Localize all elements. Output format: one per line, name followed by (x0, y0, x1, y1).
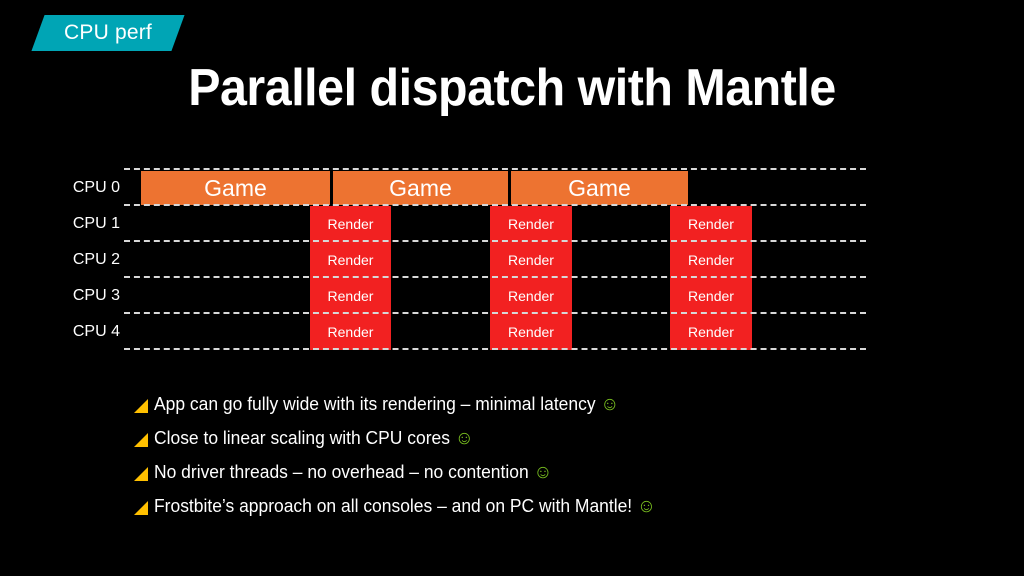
list-item: Frostbite’s approach on all consoles – a… (132, 490, 952, 524)
chart-row: CPU 4RenderRenderRender (0, 314, 1024, 350)
list-item: No driver threads – no overhead – no con… (132, 456, 952, 490)
triangle-bullet-icon (132, 388, 154, 422)
render-block: Render (670, 278, 752, 314)
render-block: Render (490, 206, 572, 242)
chart-gridline (124, 312, 866, 314)
row-label-cpu-4: CPU 4 (20, 314, 120, 350)
render-block: Render (490, 242, 572, 278)
row-label-cpu-0: CPU 0 (20, 170, 120, 206)
chart-row: CPU 0GameGameGame (0, 170, 1024, 206)
bullet-text: No driver threads – no overhead – no con… (154, 462, 552, 484)
render-block: Render (310, 278, 391, 314)
list-item: Close to linear scaling with CPU cores☺ (132, 422, 952, 456)
render-block: Render (310, 242, 391, 278)
row-label-cpu-2: CPU 2 (20, 242, 120, 278)
triangle-bullet-icon (132, 456, 154, 490)
chart-row: CPU 3RenderRenderRender (0, 278, 1024, 314)
smiley-icon: ☺ (534, 462, 553, 483)
chart-gridline (124, 204, 866, 206)
kicker-label: CPU perf (64, 21, 152, 45)
cpu-timeline-chart: CPU 0GameGameGameCPU 1RenderRenderRender… (0, 168, 1024, 350)
game-block: Game (141, 171, 330, 205)
chart-row: CPU 2RenderRenderRender (0, 242, 1024, 278)
triangle-bullet-icon (132, 490, 154, 524)
game-block: Game (511, 171, 688, 205)
smiley-icon: ☺ (637, 496, 656, 517)
bullet-list: App can go fully wide with its rendering… (132, 388, 952, 524)
chart-gridline (124, 276, 866, 278)
kicker-banner: CPU perf (31, 15, 184, 51)
render-block: Render (310, 206, 391, 242)
smiley-icon: ☺ (455, 428, 474, 449)
bullet-text: Close to linear scaling with CPU cores☺ (154, 428, 474, 450)
list-item: App can go fully wide with its rendering… (132, 388, 952, 422)
game-block: Game (333, 171, 508, 205)
triangle-bullet-icon (132, 422, 154, 456)
render-block: Render (310, 314, 391, 350)
chart-gridline (124, 240, 866, 242)
row-label-cpu-1: CPU 1 (20, 206, 120, 242)
render-block: Render (670, 314, 752, 350)
bullet-text: Frostbite’s approach on all consoles – a… (154, 496, 656, 518)
render-block: Render (670, 242, 752, 278)
render-block: Render (670, 206, 752, 242)
bullet-text: App can go fully wide with its rendering… (154, 394, 619, 416)
page-title: Parallel dispatch with Mantle (36, 58, 988, 118)
render-block: Render (490, 278, 572, 314)
chart-gridline (124, 348, 866, 350)
render-block: Render (490, 314, 572, 350)
chart-row: CPU 1RenderRenderRender (0, 206, 1024, 242)
smiley-icon: ☺ (600, 394, 619, 415)
row-label-cpu-3: CPU 3 (20, 278, 120, 314)
chart-gridline (124, 168, 866, 170)
